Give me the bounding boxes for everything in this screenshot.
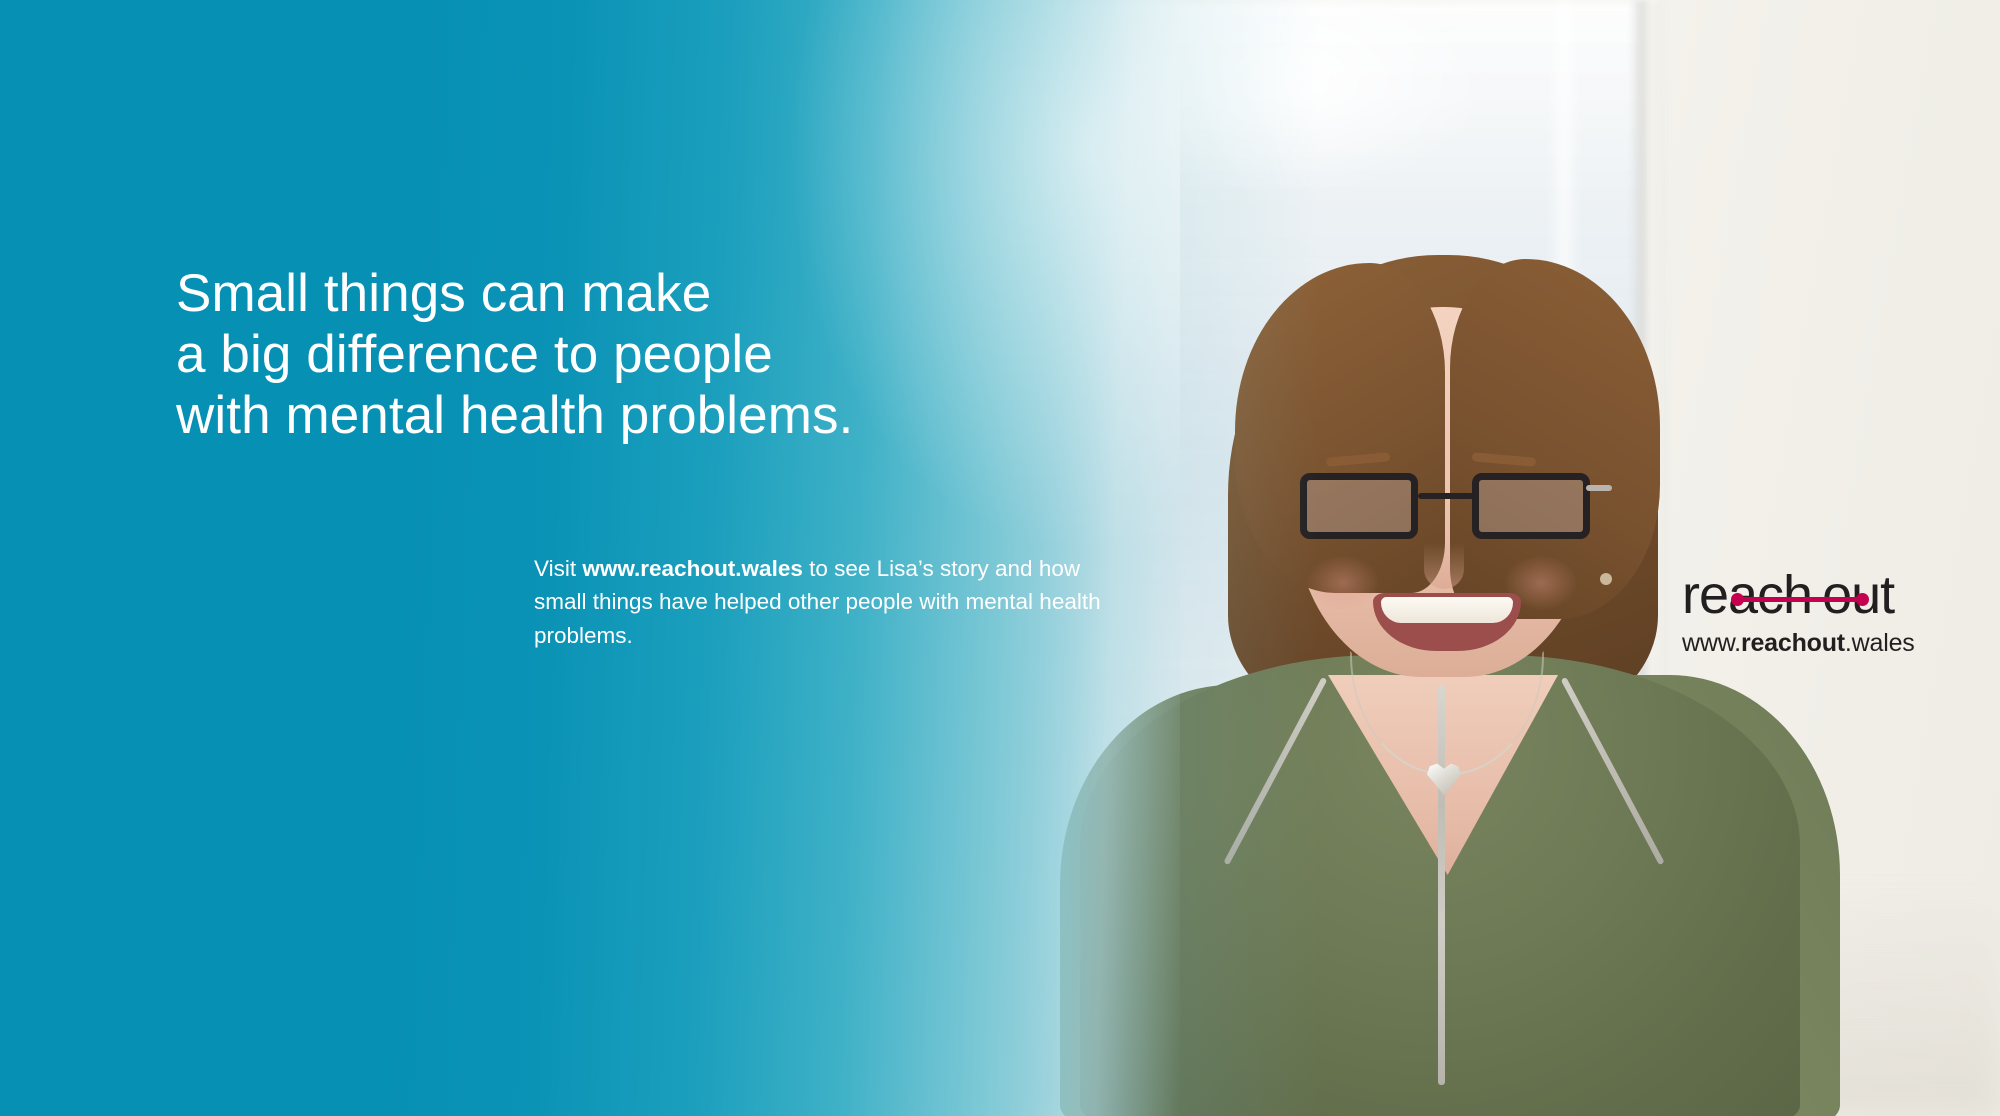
lens-left xyxy=(1300,473,1418,539)
logo-wordmark: reachout xyxy=(1682,568,1950,622)
headline: Small things can make a big difference t… xyxy=(176,264,1076,447)
poster-canvas: Small things can make a big difference t… xyxy=(0,0,2000,1116)
subcopy: Visit www.reachout.wales to see Lisa’s s… xyxy=(534,552,1114,652)
portrait-subject xyxy=(1060,255,1820,1116)
teeth xyxy=(1381,597,1513,623)
eyeglasses-icon xyxy=(1300,473,1590,545)
subcopy-url: www.reachout.wales xyxy=(582,556,803,581)
logo-word-reach: reach xyxy=(1682,565,1812,625)
ceiling-light-glow xyxy=(1080,0,1500,200)
cheek-left xyxy=(1306,555,1380,611)
earring xyxy=(1600,573,1612,585)
subcopy-lead: Visit xyxy=(534,556,582,581)
lens-right xyxy=(1472,473,1590,539)
glasses-temple xyxy=(1586,485,1612,491)
nose xyxy=(1424,543,1464,589)
glasses-bridge xyxy=(1418,493,1474,499)
logo-url-www: www. xyxy=(1682,629,1741,657)
reachout-logo[interactable]: reachout www.reachout.wales xyxy=(1682,568,1950,658)
logo-url-brand: reachout xyxy=(1741,629,1845,657)
logo-url-tld: .wales xyxy=(1845,629,1915,657)
logo-url: www.reachout.wales xyxy=(1682,629,1950,658)
logo-connector-line-icon xyxy=(1736,597,1864,602)
